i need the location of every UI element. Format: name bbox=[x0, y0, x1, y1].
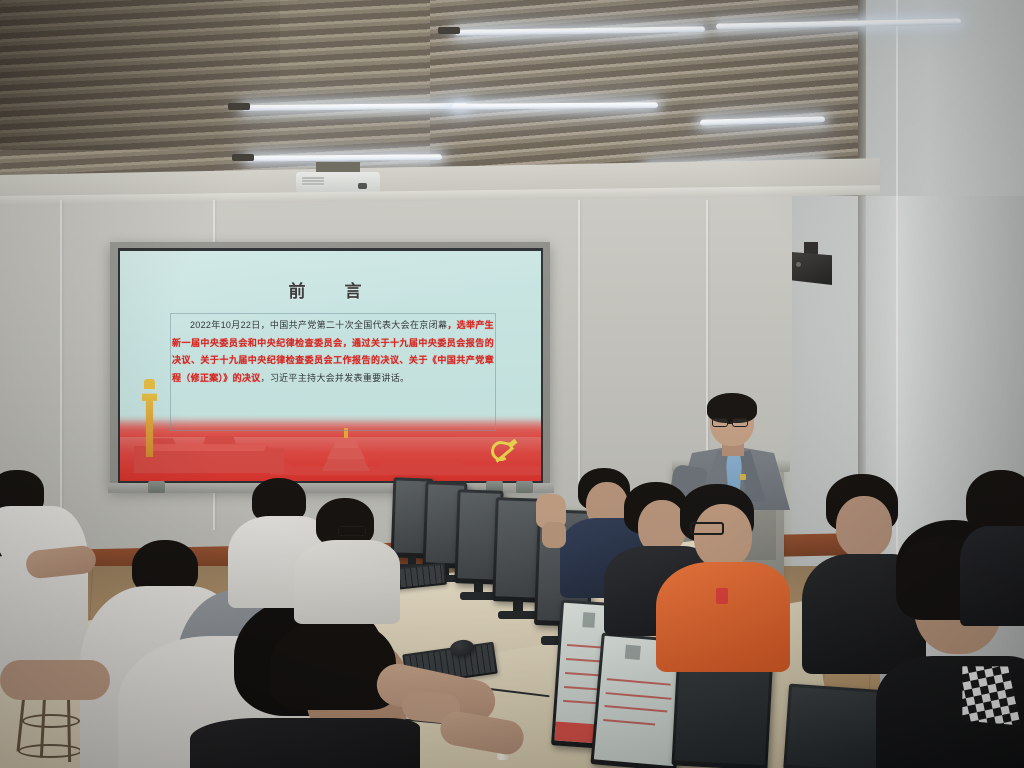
wrist-shape bbox=[542, 522, 566, 548]
monitor-text-line bbox=[605, 705, 667, 712]
student-shirt bbox=[294, 540, 400, 624]
student-dark-row-1 bbox=[300, 498, 400, 608]
projector-lens bbox=[358, 183, 367, 189]
party-emblem-icon bbox=[489, 437, 519, 467]
slide-body-lead: 2022年10月22日，中国共产党第二十次全国代表大会在京闭幕 bbox=[190, 320, 447, 330]
slide-title: 前 言 bbox=[120, 277, 541, 302]
student-raised-hand bbox=[536, 494, 576, 544]
presenter-lapel-pin bbox=[740, 474, 746, 480]
monitor-text-line bbox=[607, 678, 671, 686]
glasses-icon bbox=[732, 418, 748, 427]
glasses-icon bbox=[690, 522, 724, 535]
student-shirt bbox=[190, 718, 420, 768]
student-face bbox=[836, 496, 892, 558]
monitor-slide-titlebar bbox=[582, 612, 596, 628]
screen-rail-clip bbox=[148, 481, 165, 493]
slide-column-top-art bbox=[144, 379, 155, 389]
speaker-indicator bbox=[796, 262, 801, 267]
ceiling-shadow-left bbox=[0, 0, 280, 150]
light-tube-cap bbox=[232, 154, 254, 161]
projector-vent bbox=[302, 177, 324, 186]
light-tube-cap bbox=[438, 27, 460, 34]
slide-body-tail: ，习近平主持大会并发表重要讲话。 bbox=[261, 373, 410, 383]
classroom-photo-scene: 前 言 2022年10月22日，中国共产党第二十次全国代表大会在京闭幕，选举产生… bbox=[0, 0, 1024, 768]
student-face bbox=[694, 504, 752, 568]
glasses-icon bbox=[712, 418, 728, 427]
monitor-text-line bbox=[606, 692, 672, 700]
student-shirt bbox=[960, 526, 1024, 626]
ceiling-right-column bbox=[866, 0, 1024, 205]
student-forearm bbox=[0, 660, 110, 700]
wall-speaker bbox=[792, 252, 832, 285]
student-orange-tee bbox=[664, 484, 780, 644]
student-hand-left bbox=[0, 660, 120, 768]
screen-rail-clip bbox=[516, 481, 533, 493]
student-shirt bbox=[656, 562, 790, 672]
wall-panel-seam bbox=[578, 200, 580, 500]
glasses-icon bbox=[338, 526, 366, 536]
speaker-bracket bbox=[804, 242, 818, 254]
monitor-text-line bbox=[604, 719, 655, 725]
monitor-slide-titlebar bbox=[625, 645, 641, 660]
student-hair bbox=[966, 470, 1024, 532]
temple-roof-upper bbox=[333, 438, 359, 448]
student-hair-front bbox=[270, 618, 396, 710]
student-hair bbox=[316, 498, 374, 546]
temple-roof-lower bbox=[322, 459, 370, 471]
glasses-bridge bbox=[727, 422, 733, 424]
temple-roof-mid bbox=[327, 448, 365, 459]
student-far-right bbox=[966, 470, 1024, 590]
shirt-logo bbox=[716, 588, 728, 604]
presentation-slide: 前 言 2022年10月22日，中国共产党第二十次全国代表大会在京闭幕，选举产生… bbox=[120, 251, 541, 481]
light-tube-cap bbox=[228, 103, 250, 110]
slide-body-text: 2022年10月22日，中国共产党第二十次全国代表大会在京闭幕，选举产生新一届中… bbox=[172, 317, 494, 387]
